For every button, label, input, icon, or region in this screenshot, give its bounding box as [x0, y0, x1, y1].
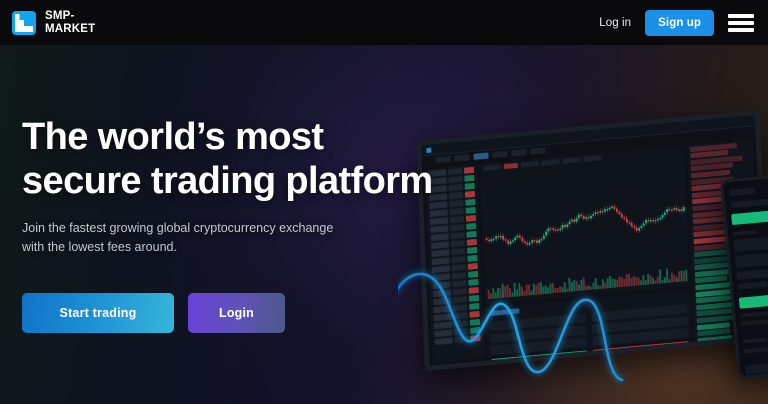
- login-button[interactable]: Login: [188, 293, 285, 333]
- hero-subtitle: Join the fastest growing global cryptocu…: [22, 219, 367, 257]
- order-book-row: [697, 335, 732, 343]
- hamburger-bar: [728, 14, 754, 18]
- phone-row: [743, 337, 767, 343]
- page-title: The world’s most secure trading platform: [22, 115, 502, 203]
- hamburger-bar: [728, 28, 754, 32]
- start-trading-button[interactable]: Start trading: [22, 293, 174, 333]
- phone-row: [730, 198, 768, 208]
- phone-row: [745, 361, 768, 374]
- logo-stair-glyph: [12, 11, 36, 35]
- brand-logo[interactable]: SMP- MARKET: [12, 10, 95, 35]
- toolbar-item: [521, 161, 539, 168]
- hero-copy: The world’s most secure trading platform…: [22, 115, 502, 333]
- tab: [530, 147, 545, 154]
- sign-up-button[interactable]: Sign up: [645, 10, 714, 36]
- header-nav: Log in Sign up: [599, 10, 754, 36]
- phone-row: [735, 252, 768, 268]
- phone-row: [733, 230, 757, 236]
- candlestick-chart-panel: [480, 146, 690, 305]
- phone-buy-button: [731, 210, 768, 225]
- phone-row: [733, 236, 768, 252]
- landing-page: SMP- MARKET Log in Sign up: [0, 0, 768, 404]
- hamburger-menu-icon[interactable]: [728, 13, 754, 33]
- toolbar-item: [584, 155, 602, 162]
- brand-name: SMP- MARKET: [45, 10, 95, 35]
- toolbar-item: [563, 157, 581, 164]
- smp-market-logo-icon: [12, 11, 36, 35]
- site-header: SMP- MARKET Log in Sign up: [0, 0, 768, 45]
- phone-row: [740, 310, 768, 318]
- phone-row: [736, 268, 768, 280]
- order-book-row: [698, 361, 737, 370]
- price-candles: [480, 162, 689, 307]
- log-in-link[interactable]: Log in: [599, 17, 631, 29]
- phone-row: [737, 281, 767, 290]
- hamburger-bar: [728, 21, 754, 25]
- phone-buy-button: [739, 294, 768, 309]
- toolbar-item: [542, 159, 560, 166]
- tab: [511, 149, 526, 156]
- toolbar-item: [504, 163, 518, 169]
- phone-row: [729, 188, 755, 196]
- hero-section: The world’s most secure trading platform…: [0, 45, 768, 404]
- order-book-row: [698, 354, 736, 362]
- phone-row: [741, 318, 768, 326]
- phone-row: [743, 345, 768, 353]
- cta-row: Start trading Login: [22, 293, 502, 333]
